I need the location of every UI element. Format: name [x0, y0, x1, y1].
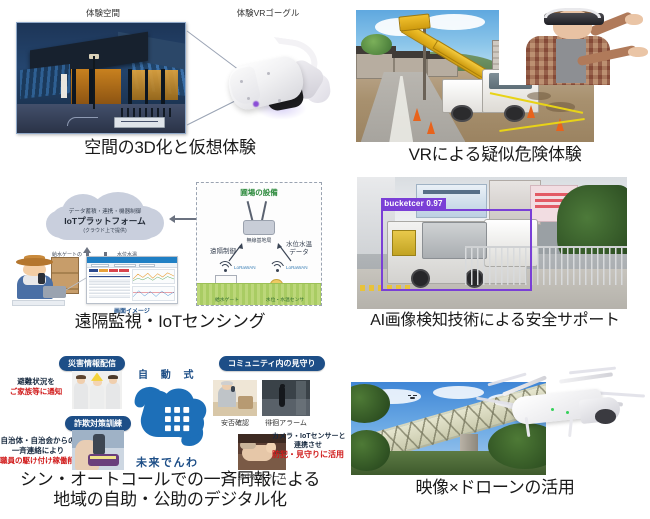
note-camera-iot: カメラ・IoTセンサーと 連携させ 防犯・見守りに活用 — [272, 432, 344, 460]
caption-vr-space: 空間の3D化と仮想体験 — [0, 138, 340, 157]
wifi-icon-left — [217, 261, 233, 272]
thumb-safety-check — [213, 380, 257, 416]
caption-vr-danger: VRによる疑似危険体験 — [340, 145, 650, 164]
label-lorawan-right: LoRaWAN — [286, 265, 308, 270]
note-bulk-contact-line1: 自治体・自治会からの — [0, 436, 76, 446]
panel-drone: 映像×ドローンの活用 — [340, 344, 650, 519]
panel-vr-space: 体験空間 体験VRゴーグル — [0, 0, 340, 172]
wifi-icon-right — [269, 261, 285, 272]
logo-name-text: 未来でんわ — [136, 454, 199, 470]
panel-iot: データ蓄積・連携・機器制御 IoTプラットフォーム (クラウド上で提供) 給水ゲ… — [0, 172, 340, 344]
label-water-sensor: 水位・水温センサ — [255, 296, 315, 303]
caption-drone: 映像×ドローンの活用 — [340, 478, 650, 497]
thumb-family — [72, 371, 122, 409]
detection-label: bucketcer 0.97 — [381, 198, 445, 209]
note-evacuation-line1: 避難状況を — [2, 377, 70, 387]
note-camera-iot-line1: カメラ・IoTセンサーと — [272, 432, 344, 441]
panel-ai-detection: bucketcer 0.97 AI画像検知技術による安全サポート — [340, 172, 650, 344]
vr-user-photo — [499, 0, 649, 85]
caption-ai-detection: AI画像検知技術による安全サポート — [340, 312, 650, 330]
farm-equipment-box: 圃場の設備 無線基地局 遠隔制御 水位水温 データ — [196, 182, 322, 306]
caption-wander-alarm: 徘徊アラーム — [258, 418, 314, 428]
thumb-fraud-call — [72, 430, 124, 470]
caption-iot: 遠隔監視・IoTセンシング — [0, 312, 340, 331]
phone-cloud-icon — [130, 382, 220, 452]
note-camera-iot-line3: 防犯・見守りに活用 — [272, 450, 344, 460]
iot-diagram: データ蓄積・連携・機器制御 IoTプラットフォーム (クラウド上で提供) 給水ゲ… — [10, 178, 335, 306]
autocall-logo: 自 動 式 未来でんわ — [126, 366, 222, 470]
panel-vr-danger: VRによる疑似危険体験 — [340, 0, 650, 172]
thumb-wander-alarm — [262, 380, 310, 416]
label-lorawan-left: LoRaWAN — [234, 265, 256, 270]
drone-illustration — [465, 356, 645, 448]
logo-auto-text: 自 動 式 — [138, 366, 199, 381]
caption-safety-check: 安否確認 — [210, 418, 260, 428]
caption-autocall-line2: 地域の自助・公助のデジタル化 — [0, 490, 340, 509]
ai-detection-photo: bucketcer 0.97 — [357, 177, 627, 309]
note-camera-iot-line2: 連携させ — [272, 441, 344, 450]
badge-fraud-training: 詐欺対策訓練 — [65, 416, 131, 431]
vr-headset-illustration — [222, 30, 334, 126]
note-evacuation: 避難状況を ご家族等に通知 — [2, 377, 70, 396]
distant-drone-icon — [408, 395, 417, 400]
badge-community-watch: コミュニティ内の見守り — [219, 356, 325, 371]
label-water-gate: 給水ゲート — [205, 296, 249, 303]
slide-root: 体験空間 体験VRゴーグル — [0, 0, 650, 519]
note-bulk-contact-line2: 一斉連絡により — [0, 446, 76, 456]
caption-autocall-line1: シン・オートコールでの一斉同報による — [0, 470, 340, 489]
panel-autocall: 災害情報配信 詐欺対策訓練 コミュニティ内の見守り 避難状況を ご家族等に通知 … — [0, 344, 340, 519]
note-bulk-contact: 自治体・自治会からの 一斉連絡により 職員の駆け付け稼働削減 — [0, 436, 76, 465]
note-evacuation-line2: ご家族等に通知 — [2, 387, 70, 396]
badge-disaster-info: 災害情報配信 — [59, 356, 125, 371]
detection-bounding-box — [381, 209, 532, 291]
note-bulk-contact-line3: 職員の駆け付け稼働削減 — [0, 456, 76, 465]
